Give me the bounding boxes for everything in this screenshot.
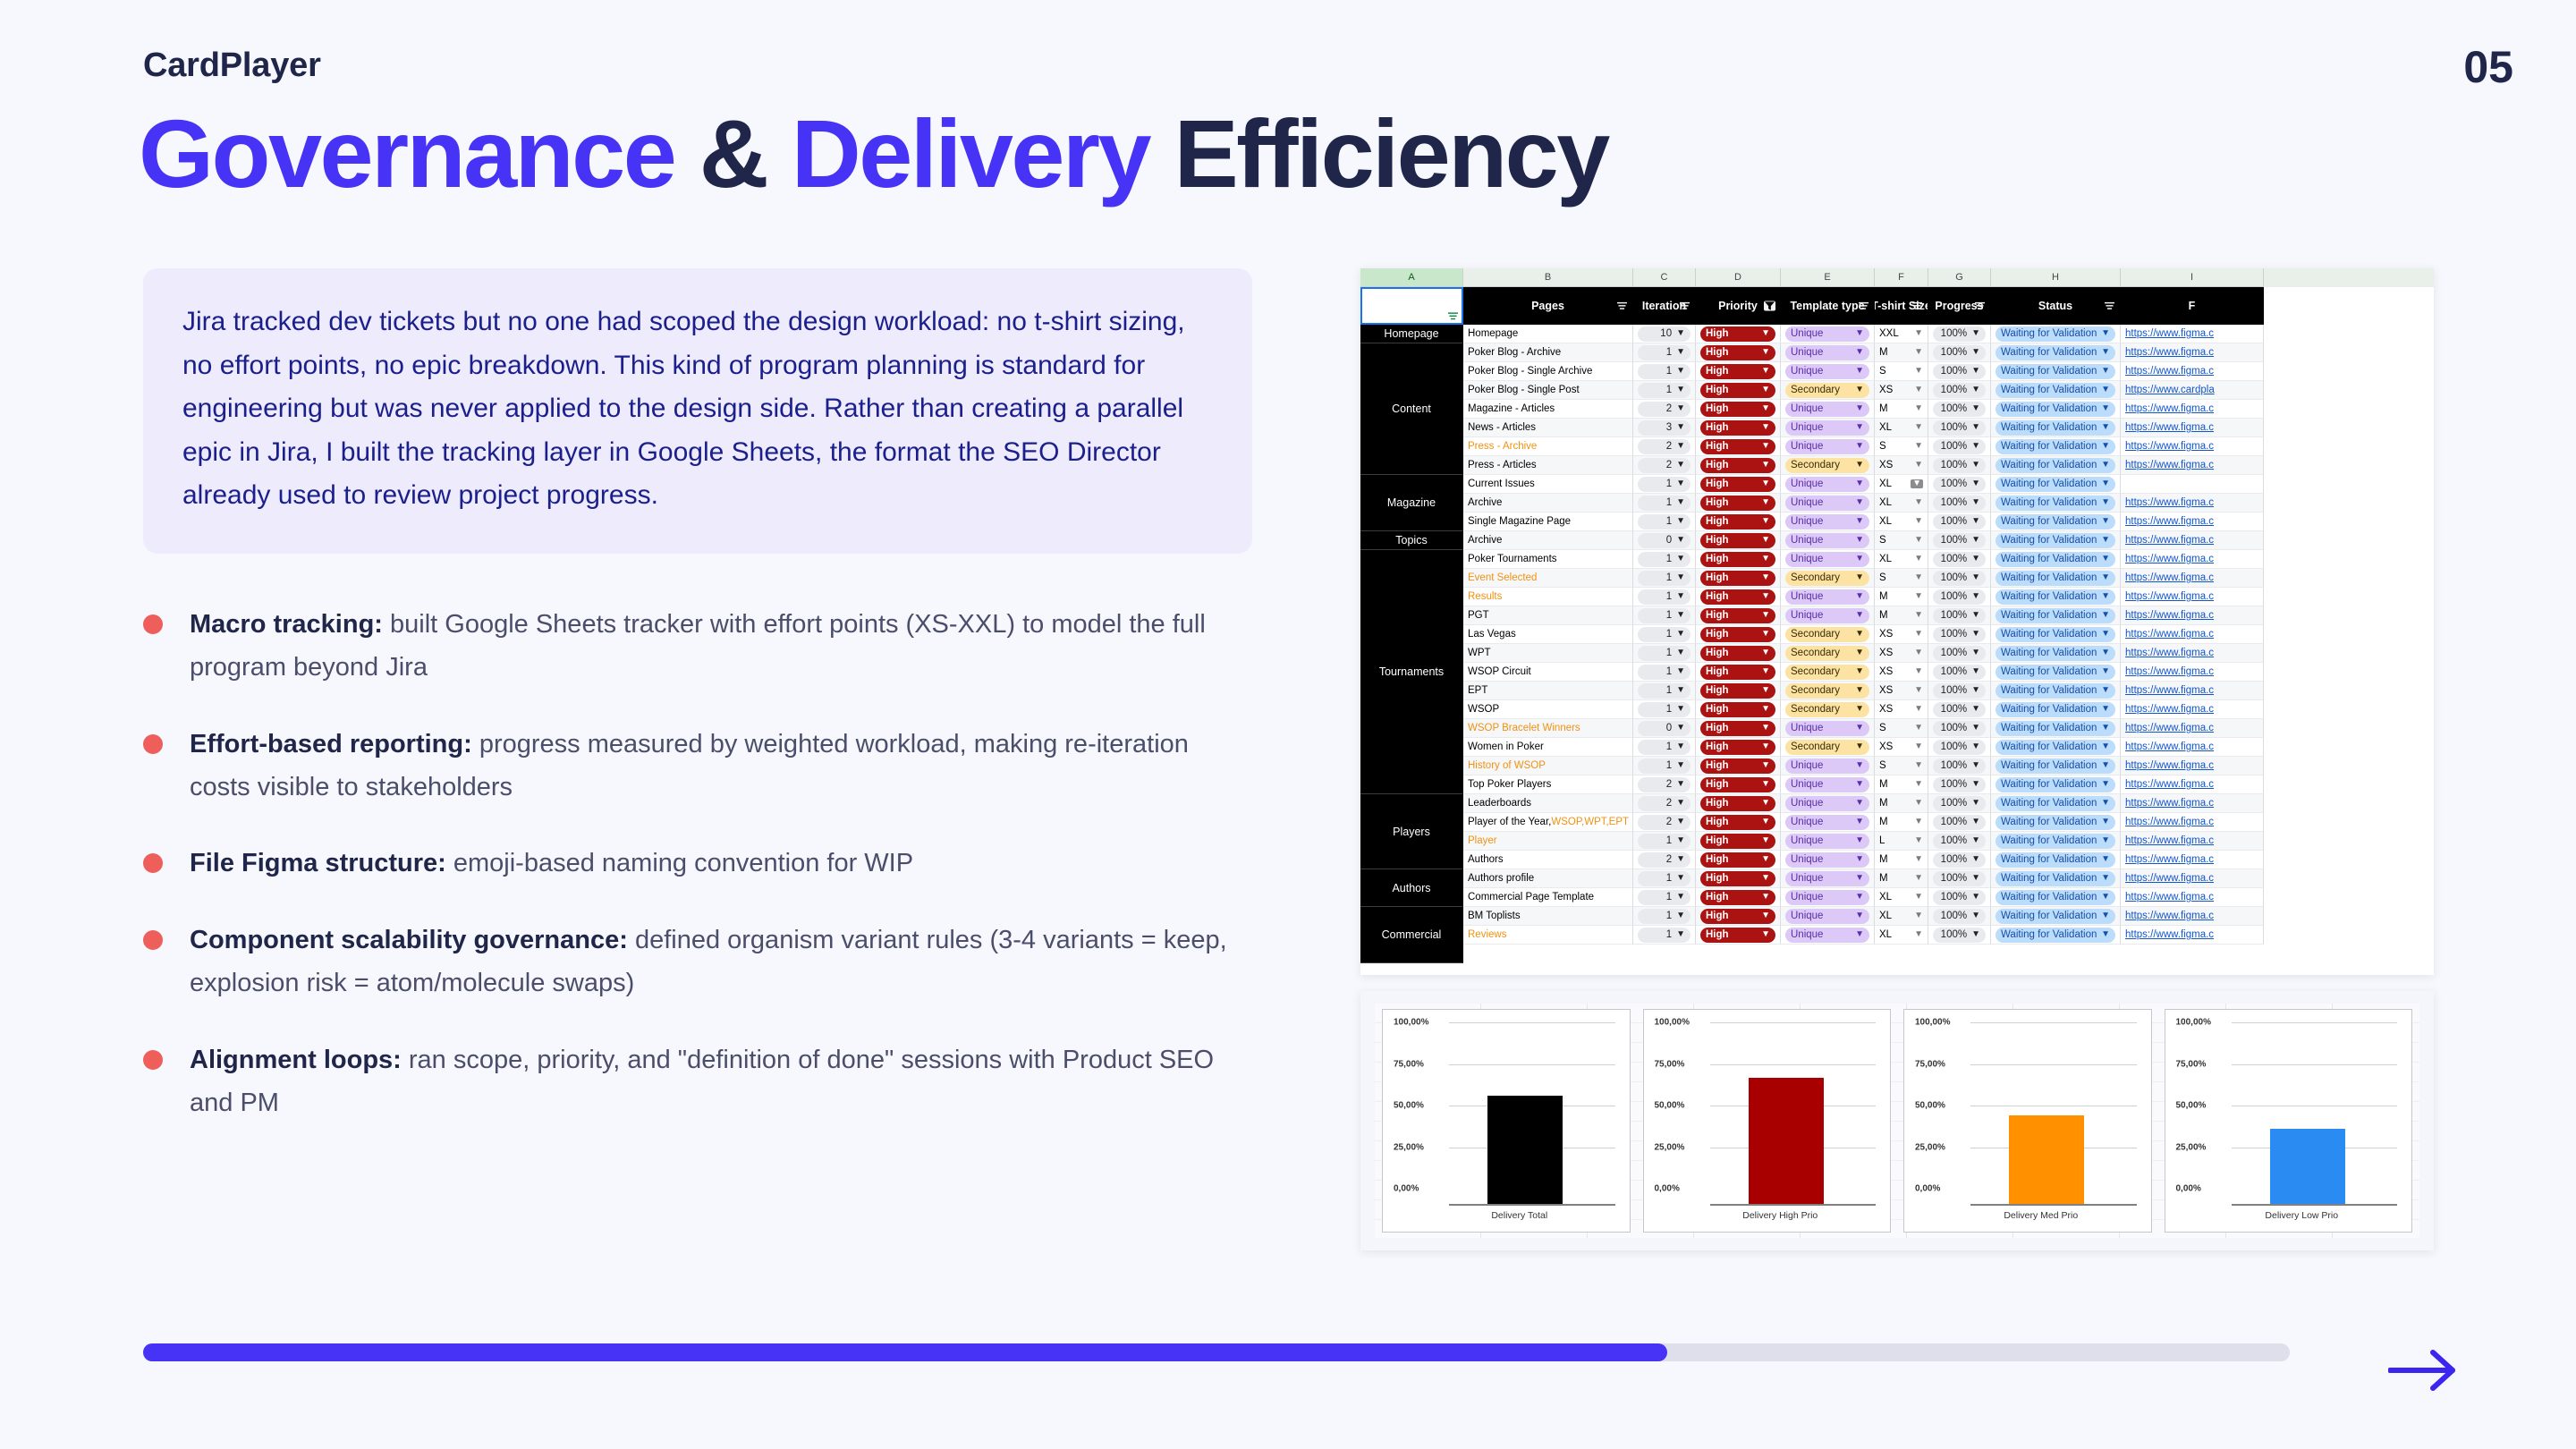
chevron-down-icon[interactable]: ▼ — [1676, 498, 1685, 507]
template-type-chip[interactable]: Secondary▼ — [1785, 571, 1869, 586]
cell-status[interactable]: Waiting for Validation▼ — [1991, 926, 2121, 945]
figma-link[interactable]: https://www.figma.c — [2125, 347, 2214, 358]
cell-pages[interactable]: Press - Articles — [1463, 456, 1633, 475]
figma-link[interactable]: https://www.figma.c — [2125, 723, 2214, 733]
cell-pages[interactable]: Current Issues — [1463, 475, 1633, 494]
cell-progress[interactable]: 100%▼ — [1928, 325, 1991, 343]
chevron-down-icon[interactable]: ▼ — [1761, 893, 1770, 902]
chevron-down-icon[interactable]: ▼ — [1855, 780, 1864, 789]
chevron-down-icon[interactable]: ▼ — [1971, 705, 1980, 714]
figma-link[interactable]: https://www.figma.c — [2125, 835, 2214, 846]
chevron-down-icon[interactable]: ▼ — [1761, 874, 1770, 883]
cell-tshirt-size[interactable]: XS▼ — [1875, 738, 1928, 757]
cell-pages[interactable]: WSOP — [1463, 700, 1633, 719]
cell-link[interactable]: https://www.figma.c — [2121, 757, 2264, 775]
figma-link[interactable]: https://www.figma.c — [2125, 741, 2214, 752]
column-letter-h[interactable]: H — [1991, 268, 2121, 287]
iteration-chip[interactable]: 1▼ — [1638, 871, 1690, 886]
cell-iteration[interactable]: 1▼ — [1633, 869, 1696, 888]
cell-status[interactable]: Waiting for Validation▼ — [1991, 907, 2121, 926]
chevron-down-icon[interactable]: ▼ — [1676, 423, 1685, 432]
chevron-down-icon[interactable]: ▼ — [1971, 818, 1980, 826]
chevron-down-icon[interactable]: ▼ — [1761, 555, 1770, 563]
tshirt-size-control[interactable]: XS▼ — [1879, 648, 1923, 658]
chevron-down-icon[interactable]: ▼ — [1761, 442, 1770, 451]
chevron-down-icon[interactable]: ▼ — [1971, 442, 1980, 451]
chevron-down-icon[interactable]: ▼ — [1914, 742, 1923, 751]
cell-progress[interactable]: 100%▼ — [1928, 475, 1991, 494]
progress-chip[interactable]: 100%▼ — [1933, 909, 1986, 924]
cell-link[interactable]: https://www.figma.c — [2121, 531, 2264, 550]
iteration-chip[interactable]: 1▼ — [1638, 740, 1690, 755]
priority-chip[interactable]: High▼ — [1700, 683, 1775, 699]
cell-progress[interactable]: 100%▼ — [1928, 531, 1991, 550]
cell-template-type[interactable]: Unique▼ — [1781, 926, 1875, 945]
chevron-down-icon[interactable]: ▼ — [1914, 648, 1923, 657]
cell-progress[interactable]: 100%▼ — [1928, 682, 1991, 700]
template-type-chip[interactable]: Unique▼ — [1785, 402, 1869, 417]
iteration-chip[interactable]: 0▼ — [1638, 721, 1690, 736]
chevron-down-icon[interactable]: ▼ — [1761, 386, 1770, 394]
table-row[interactable]: Magazine - Articles2▼High▼Unique▼M▼100%▼… — [1463, 400, 2264, 419]
chevron-down-icon[interactable]: ▼ — [1855, 517, 1864, 526]
chevron-down-icon[interactable]: ▼ — [1761, 536, 1770, 545]
tshirt-size-control[interactable]: XL▼ — [1879, 516, 1923, 527]
status-chip[interactable]: Waiting for Validation▼ — [1996, 646, 2115, 661]
cell-iteration[interactable]: 1▼ — [1633, 644, 1696, 663]
cell-status[interactable]: Waiting for Validation▼ — [1991, 475, 2121, 494]
table-row[interactable]: Homepage10▼High▼Unique▼XXL▼100%▼Waiting … — [1463, 325, 2264, 343]
chevron-down-icon[interactable]: ▼ — [1971, 780, 1980, 789]
cell-iteration[interactable]: 1▼ — [1633, 343, 1696, 362]
cell-tshirt-size[interactable]: S▼ — [1875, 362, 1928, 381]
cell-pages[interactable]: WSOP Circuit — [1463, 663, 1633, 682]
table-row[interactable]: EPT1▼High▼Secondary▼XS▼100%▼Waiting for … — [1463, 682, 2264, 700]
cell-tshirt-size[interactable]: M▼ — [1875, 869, 1928, 888]
priority-chip[interactable]: High▼ — [1700, 326, 1775, 342]
chevron-down-icon[interactable]: ▼ — [1914, 799, 1923, 808]
chevron-down-icon[interactable]: ▼ — [2101, 836, 2110, 845]
chevron-down-icon[interactable]: ▼ — [1971, 498, 1980, 507]
status-chip[interactable]: Waiting for Validation▼ — [1996, 665, 2115, 680]
iteration-chip[interactable]: 1▼ — [1638, 890, 1690, 905]
chevron-down-icon[interactable]: ▼ — [1914, 724, 1923, 733]
priority-chip[interactable]: High▼ — [1700, 909, 1775, 924]
priority-chip[interactable]: High▼ — [1700, 758, 1775, 774]
cell-link[interactable]: https://www.figma.c — [2121, 513, 2264, 531]
cell-progress[interactable]: 100%▼ — [1928, 851, 1991, 869]
figma-link[interactable]: https://www.figma.c — [2125, 892, 2214, 902]
column-header-f[interactable]: F — [2121, 287, 2264, 325]
table-row[interactable]: Poker Tournaments1▼High▼Unique▼XL▼100%▼W… — [1463, 550, 2264, 569]
template-type-chip[interactable]: Unique▼ — [1785, 815, 1869, 830]
cell-pages[interactable]: Results — [1463, 588, 1633, 606]
template-type-chip[interactable]: Unique▼ — [1785, 552, 1869, 567]
cell-iteration[interactable]: 2▼ — [1633, 851, 1696, 869]
status-chip[interactable]: Waiting for Validation▼ — [1996, 721, 2115, 736]
chevron-down-icon[interactable]: ▼ — [1855, 498, 1864, 507]
chevron-down-icon[interactable]: ▼ — [2101, 742, 2110, 751]
cell-iteration[interactable]: 10▼ — [1633, 325, 1696, 343]
priority-chip[interactable]: High▼ — [1700, 420, 1775, 436]
status-chip[interactable]: Waiting for Validation▼ — [1996, 477, 2115, 492]
chevron-down-icon[interactable]: ▼ — [2101, 536, 2110, 545]
iteration-chip[interactable]: 0▼ — [1638, 533, 1690, 548]
cell-link[interactable]: https://www.figma.c — [2121, 907, 2264, 926]
cell-tshirt-size[interactable]: XL▼ — [1875, 475, 1928, 494]
iteration-chip[interactable]: 10▼ — [1638, 326, 1690, 342]
chevron-down-icon[interactable]: ▼ — [1676, 404, 1685, 413]
chevron-down-icon[interactable]: ▼ — [1971, 799, 1980, 808]
cell-status[interactable]: Waiting for Validation▼ — [1991, 381, 2121, 400]
template-type-chip[interactable]: Secondary▼ — [1785, 458, 1869, 473]
template-type-chip[interactable]: Secondary▼ — [1785, 740, 1869, 755]
cell-pages[interactable]: Press - Archive — [1463, 437, 1633, 456]
group-cell[interactable]: Tournaments — [1360, 550, 1463, 794]
chevron-down-icon[interactable]: ▼ — [1761, 592, 1770, 601]
priority-chip[interactable]: High▼ — [1700, 552, 1775, 567]
cell-link[interactable]: https://www.figma.c — [2121, 606, 2264, 625]
column-letter-c[interactable]: C — [1633, 268, 1696, 287]
cell-link[interactable]: https://www.figma.c — [2121, 869, 2264, 888]
cell-pages[interactable]: Event Selected — [1463, 569, 1633, 588]
priority-chip[interactable]: High▼ — [1700, 496, 1775, 511]
filter-icon[interactable] — [1679, 301, 1690, 311]
status-chip[interactable]: Waiting for Validation▼ — [1996, 533, 2115, 548]
chevron-down-icon[interactable]: ▼ — [2101, 667, 2110, 676]
cell-tshirt-size[interactable]: XS▼ — [1875, 700, 1928, 719]
iteration-chip[interactable]: 2▼ — [1638, 458, 1690, 473]
cell-status[interactable]: Waiting for Validation▼ — [1991, 343, 2121, 362]
priority-chip[interactable]: High▼ — [1700, 702, 1775, 717]
chevron-down-icon[interactable]: ▼ — [1761, 348, 1770, 357]
chevron-down-icon[interactable]: ▼ — [1761, 836, 1770, 845]
cell-iteration[interactable]: 1▼ — [1633, 550, 1696, 569]
chevron-down-icon[interactable]: ▼ — [1971, 855, 1980, 864]
cell-iteration[interactable]: 1▼ — [1633, 381, 1696, 400]
figma-link[interactable]: https://www.figma.c — [2125, 648, 2214, 658]
chevron-down-icon[interactable]: ▼ — [1855, 893, 1864, 902]
column-header-status[interactable]: Status — [1991, 287, 2121, 325]
chevron-down-icon[interactable]: ▼ — [1914, 461, 1923, 470]
cell-link[interactable]: https://www.figma.c — [2121, 719, 2264, 738]
progress-chip[interactable]: 100%▼ — [1933, 815, 1986, 830]
cell-template-type[interactable]: Unique▼ — [1781, 869, 1875, 888]
chevron-down-icon[interactable]: ▼ — [1855, 724, 1864, 733]
cell-priority[interactable]: High▼ — [1696, 362, 1781, 381]
cell-progress[interactable]: 100%▼ — [1928, 419, 1991, 437]
priority-chip[interactable]: High▼ — [1700, 383, 1775, 398]
tshirt-size-control[interactable]: L▼ — [1879, 835, 1923, 846]
chevron-down-icon[interactable]: ▼ — [1914, 893, 1923, 902]
tshirt-size-control[interactable]: XL▼ — [1879, 479, 1923, 489]
table-row[interactable]: Archive1▼High▼Unique▼XL▼100%▼Waiting for… — [1463, 494, 2264, 513]
progress-chip[interactable]: 100%▼ — [1933, 890, 1986, 905]
figma-link[interactable]: https://www.figma.c — [2125, 572, 2214, 583]
chevron-down-icon[interactable]: ▼ — [2101, 911, 2110, 920]
chevron-down-icon[interactable]: ▼ — [1914, 536, 1923, 545]
table-row[interactable]: WPT1▼High▼Secondary▼XS▼100%▼Waiting for … — [1463, 644, 2264, 663]
table-row[interactable]: Player1▼High▼Unique▼L▼100%▼Waiting for V… — [1463, 832, 2264, 851]
slide-progress-track[interactable] — [143, 1343, 2290, 1361]
progress-chip[interactable]: 100%▼ — [1933, 514, 1986, 530]
cell-template-type[interactable]: Secondary▼ — [1781, 381, 1875, 400]
cell-link[interactable]: https://www.figma.c — [2121, 400, 2264, 419]
cell-iteration[interactable]: 1▼ — [1633, 738, 1696, 757]
cell-status[interactable]: Waiting for Validation▼ — [1991, 663, 2121, 682]
cell-template-type[interactable]: Secondary▼ — [1781, 663, 1875, 682]
chevron-down-icon[interactable]: ▼ — [2101, 423, 2110, 432]
cell-link[interactable]: https://www.figma.c — [2121, 362, 2264, 381]
cell-link[interactable]: https://www.figma.c — [2121, 738, 2264, 757]
cell-iteration[interactable]: 1▼ — [1633, 888, 1696, 907]
cell-status[interactable]: Waiting for Validation▼ — [1991, 738, 2121, 757]
cell-tshirt-size[interactable]: XL▼ — [1875, 926, 1928, 945]
cell-link[interactable]: https://www.figma.c — [2121, 851, 2264, 869]
cell-tshirt-size[interactable]: XS▼ — [1875, 381, 1928, 400]
figma-link[interactable]: https://www.figma.c — [2125, 516, 2214, 527]
progress-chip[interactable]: 100%▼ — [1933, 345, 1986, 360]
cell-pages[interactable]: Single Magazine Page — [1463, 513, 1633, 531]
cell-link[interactable]: https://www.figma.c — [2121, 926, 2264, 945]
priority-chip[interactable]: High▼ — [1700, 815, 1775, 830]
cell-status[interactable]: Waiting for Validation▼ — [1991, 700, 2121, 719]
tshirt-size-control[interactable]: M▼ — [1879, 403, 1923, 414]
cell-template-type[interactable]: Secondary▼ — [1781, 456, 1875, 475]
cell-tshirt-size[interactable]: M▼ — [1875, 775, 1928, 794]
progress-chip[interactable]: 100%▼ — [1933, 721, 1986, 736]
iteration-chip[interactable]: 1▼ — [1638, 496, 1690, 511]
progress-chip[interactable]: 100%▼ — [1933, 326, 1986, 342]
chevron-down-icon[interactable]: ▼ — [1761, 498, 1770, 507]
cell-progress[interactable]: 100%▼ — [1928, 738, 1991, 757]
cell-progress[interactable]: 100%▼ — [1928, 456, 1991, 475]
tshirt-size-control[interactable]: M▼ — [1879, 817, 1923, 827]
iteration-chip[interactable]: 1▼ — [1638, 646, 1690, 661]
progress-chip[interactable]: 100%▼ — [1933, 627, 1986, 642]
figma-link[interactable]: https://www.figma.c — [2125, 873, 2214, 884]
cell-template-type[interactable]: Secondary▼ — [1781, 682, 1875, 700]
template-type-chip[interactable]: Unique▼ — [1785, 721, 1869, 736]
chevron-down-icon[interactable]: ▼ — [1855, 648, 1864, 657]
chevron-down-icon[interactable]: ▼ — [1914, 404, 1923, 413]
template-type-chip[interactable]: Secondary▼ — [1785, 646, 1869, 661]
figma-link[interactable]: https://www.figma.c — [2125, 460, 2214, 470]
cell-tshirt-size[interactable]: XS▼ — [1875, 644, 1928, 663]
chevron-down-icon[interactable]: ▼ — [1914, 855, 1923, 864]
cell-pages[interactable]: BM Toplists — [1463, 907, 1633, 926]
cell-link[interactable]: https://www.cardpla — [2121, 381, 2264, 400]
figma-link[interactable]: https://www.figma.c — [2125, 779, 2214, 790]
cell-priority[interactable]: High▼ — [1696, 682, 1781, 700]
cell-template-type[interactable]: Unique▼ — [1781, 907, 1875, 926]
cell-template-type[interactable]: Unique▼ — [1781, 494, 1875, 513]
chevron-down-icon[interactable]: ▼ — [1676, 479, 1685, 488]
cell-tshirt-size[interactable]: M▼ — [1875, 588, 1928, 606]
tshirt-size-control[interactable]: S▼ — [1879, 572, 1923, 583]
cell-template-type[interactable]: Unique▼ — [1781, 325, 1875, 343]
priority-chip[interactable]: High▼ — [1700, 871, 1775, 886]
priority-chip[interactable]: High▼ — [1700, 439, 1775, 454]
chevron-down-icon[interactable]: ▼ — [1914, 761, 1923, 770]
chevron-down-icon[interactable]: ▼ — [1914, 442, 1923, 451]
template-type-chip[interactable]: Unique▼ — [1785, 928, 1869, 943]
chevron-down-icon[interactable]: ▼ — [1914, 705, 1923, 714]
iteration-chip[interactable]: 2▼ — [1638, 439, 1690, 454]
cell-template-type[interactable]: Unique▼ — [1781, 775, 1875, 794]
chevron-down-icon[interactable]: ▼ — [1761, 611, 1770, 620]
chevron-down-icon[interactable]: ▼ — [1971, 423, 1980, 432]
tshirt-size-control[interactable]: XS▼ — [1879, 741, 1923, 752]
cell-progress[interactable]: 100%▼ — [1928, 381, 1991, 400]
chevron-down-icon[interactable]: ▼ — [1676, 761, 1685, 770]
status-chip[interactable]: Waiting for Validation▼ — [1996, 740, 2115, 755]
chevron-down-icon[interactable]: ▼ — [1761, 724, 1770, 733]
chevron-down-icon[interactable]: ▼ — [2101, 386, 2110, 394]
status-chip[interactable]: Waiting for Validation▼ — [1996, 608, 2115, 623]
chevron-down-icon[interactable]: ▼ — [2101, 329, 2110, 338]
tshirt-size-control[interactable]: XS▼ — [1879, 385, 1923, 395]
cell-iteration[interactable]: 1▼ — [1633, 832, 1696, 851]
cell-progress[interactable]: 100%▼ — [1928, 663, 1991, 682]
progress-chip[interactable]: 100%▼ — [1933, 852, 1986, 868]
status-chip[interactable]: Waiting for Validation▼ — [1996, 345, 2115, 360]
cell-pages[interactable]: Archive — [1463, 531, 1633, 550]
template-type-chip[interactable]: Unique▼ — [1785, 477, 1869, 492]
progress-chip[interactable]: 100%▼ — [1933, 383, 1986, 398]
iteration-chip[interactable]: 1▼ — [1638, 608, 1690, 623]
chevron-down-icon[interactable]: ▼ — [2101, 874, 2110, 883]
chevron-down-icon[interactable]: ▼ — [2101, 498, 2110, 507]
chevron-down-icon[interactable]: ▼ — [1855, 611, 1864, 620]
chevron-down-icon[interactable]: ▼ — [1761, 761, 1770, 770]
cell-status[interactable]: Waiting for Validation▼ — [1991, 832, 2121, 851]
cell-link[interactable] — [2121, 475, 2264, 494]
template-type-chip[interactable]: Unique▼ — [1785, 608, 1869, 623]
chevron-down-icon[interactable]: ▼ — [1971, 611, 1980, 620]
chevron-down-icon[interactable]: ▼ — [1914, 367, 1923, 376]
figma-link[interactable]: https://www.figma.c — [2125, 929, 2214, 940]
cell-link[interactable]: https://www.figma.c — [2121, 437, 2264, 456]
cell-tshirt-size[interactable]: M▼ — [1875, 343, 1928, 362]
table-row[interactable]: Press - Archive2▼High▼Unique▼S▼100%▼Wait… — [1463, 437, 2264, 456]
status-chip[interactable]: Waiting for Validation▼ — [1996, 496, 2115, 511]
chevron-down-icon[interactable]: ▼ — [2101, 705, 2110, 714]
cell-pages[interactable]: History of WSOP — [1463, 757, 1633, 775]
cell-status[interactable]: Waiting for Validation▼ — [1991, 325, 2121, 343]
chevron-down-icon[interactable]: ▼ — [1676, 893, 1685, 902]
cell-link[interactable]: https://www.figma.c — [2121, 325, 2264, 343]
cell-iteration[interactable]: 1▼ — [1633, 362, 1696, 381]
cell-pages[interactable]: News - Articles — [1463, 419, 1633, 437]
cell-tshirt-size[interactable]: XL▼ — [1875, 419, 1928, 437]
priority-chip[interactable]: High▼ — [1700, 458, 1775, 473]
chevron-down-icon[interactable]: ▼ — [1676, 517, 1685, 526]
cell-template-type[interactable]: Unique▼ — [1781, 550, 1875, 569]
cell-priority[interactable]: High▼ — [1696, 606, 1781, 625]
cell-progress[interactable]: 100%▼ — [1928, 869, 1991, 888]
cell-iteration[interactable]: 2▼ — [1633, 456, 1696, 475]
cell-tshirt-size[interactable]: M▼ — [1875, 813, 1928, 832]
chevron-down-icon[interactable]: ▼ — [1971, 667, 1980, 676]
cell-progress[interactable]: 100%▼ — [1928, 362, 1991, 381]
tshirt-size-control[interactable]: XXL▼ — [1879, 328, 1923, 339]
chevron-down-icon[interactable]: ▼ — [1855, 367, 1864, 376]
iteration-chip[interactable]: 1▼ — [1638, 665, 1690, 680]
iteration-chip[interactable]: 2▼ — [1638, 777, 1690, 792]
template-type-chip[interactable]: Secondary▼ — [1785, 383, 1869, 398]
status-chip[interactable]: Waiting for Validation▼ — [1996, 364, 2115, 379]
template-type-chip[interactable]: Unique▼ — [1785, 345, 1869, 360]
column-letter-f[interactable]: F — [1875, 268, 1928, 287]
cell-template-type[interactable]: Unique▼ — [1781, 362, 1875, 381]
tshirt-size-control[interactable]: S▼ — [1879, 366, 1923, 377]
cell-priority[interactable]: High▼ — [1696, 663, 1781, 682]
chevron-down-icon[interactable]: ▼ — [1914, 836, 1923, 845]
iteration-chip[interactable]: 1▼ — [1638, 514, 1690, 530]
template-type-chip[interactable]: Secondary▼ — [1785, 683, 1869, 699]
chevron-down-icon[interactable]: ▼ — [1761, 705, 1770, 714]
chevron-down-icon[interactable]: ▼ — [2101, 555, 2110, 563]
chevron-down-icon[interactable]: ▼ — [2101, 648, 2110, 657]
iteration-chip[interactable]: 2▼ — [1638, 852, 1690, 868]
tshirt-size-control[interactable]: M▼ — [1879, 591, 1923, 602]
cell-priority[interactable]: High▼ — [1696, 569, 1781, 588]
figma-link[interactable]: https://www.figma.c — [2125, 704, 2214, 715]
cell-pages[interactable]: Commercial Page Template — [1463, 888, 1633, 907]
priority-chip[interactable]: High▼ — [1700, 514, 1775, 530]
template-type-chip[interactable]: Unique▼ — [1785, 834, 1869, 849]
chevron-down-icon[interactable]: ▼ — [1676, 592, 1685, 601]
cell-link[interactable]: https://www.figma.c — [2121, 888, 2264, 907]
cell-status[interactable]: Waiting for Validation▼ — [1991, 869, 2121, 888]
chevron-down-icon[interactable]: ▼ — [1971, 724, 1980, 733]
cell-link[interactable]: https://www.figma.c — [2121, 588, 2264, 606]
progress-chip[interactable]: 100%▼ — [1933, 702, 1986, 717]
cell-progress[interactable]: 100%▼ — [1928, 625, 1991, 644]
column-header-blank[interactable] — [1360, 287, 1463, 325]
cell-priority[interactable]: High▼ — [1696, 550, 1781, 569]
chevron-down-icon[interactable]: ▼ — [2101, 893, 2110, 902]
cell-iteration[interactable]: 2▼ — [1633, 775, 1696, 794]
cell-progress[interactable]: 100%▼ — [1928, 550, 1991, 569]
cell-link[interactable]: https://www.figma.c — [2121, 625, 2264, 644]
cell-iteration[interactable]: 2▼ — [1633, 794, 1696, 813]
cell-template-type[interactable]: Secondary▼ — [1781, 700, 1875, 719]
status-chip[interactable]: Waiting for Validation▼ — [1996, 834, 2115, 849]
iteration-chip[interactable]: 2▼ — [1638, 815, 1690, 830]
priority-chip[interactable]: High▼ — [1700, 589, 1775, 605]
cell-iteration[interactable]: 1▼ — [1633, 926, 1696, 945]
cell-link[interactable]: https://www.figma.c — [2121, 419, 2264, 437]
cell-pages[interactable]: Authors profile — [1463, 869, 1633, 888]
cell-template-type[interactable]: Unique▼ — [1781, 888, 1875, 907]
column-header-t-shirt-size[interactable]: T-shirt Size — [1875, 287, 1928, 325]
iteration-chip[interactable]: 1▼ — [1638, 589, 1690, 605]
cell-priority[interactable]: High▼ — [1696, 719, 1781, 738]
template-type-chip[interactable]: Unique▼ — [1785, 420, 1869, 436]
filter-icon[interactable] — [1764, 301, 1775, 311]
status-chip[interactable]: Waiting for Validation▼ — [1996, 796, 2115, 811]
cell-status[interactable]: Waiting for Validation▼ — [1991, 644, 2121, 663]
iteration-chip[interactable]: 1▼ — [1638, 552, 1690, 567]
progress-chip[interactable]: 100%▼ — [1933, 458, 1986, 473]
chevron-down-icon[interactable]: ▼ — [2101, 573, 2110, 582]
cell-priority[interactable]: High▼ — [1696, 907, 1781, 926]
spreadsheet-body[interactable]: HomepageContentMagazineTopicsTournaments… — [1360, 325, 2434, 963]
chevron-down-icon[interactable]: ▼ — [2101, 724, 2110, 733]
cell-tshirt-size[interactable]: S▼ — [1875, 719, 1928, 738]
